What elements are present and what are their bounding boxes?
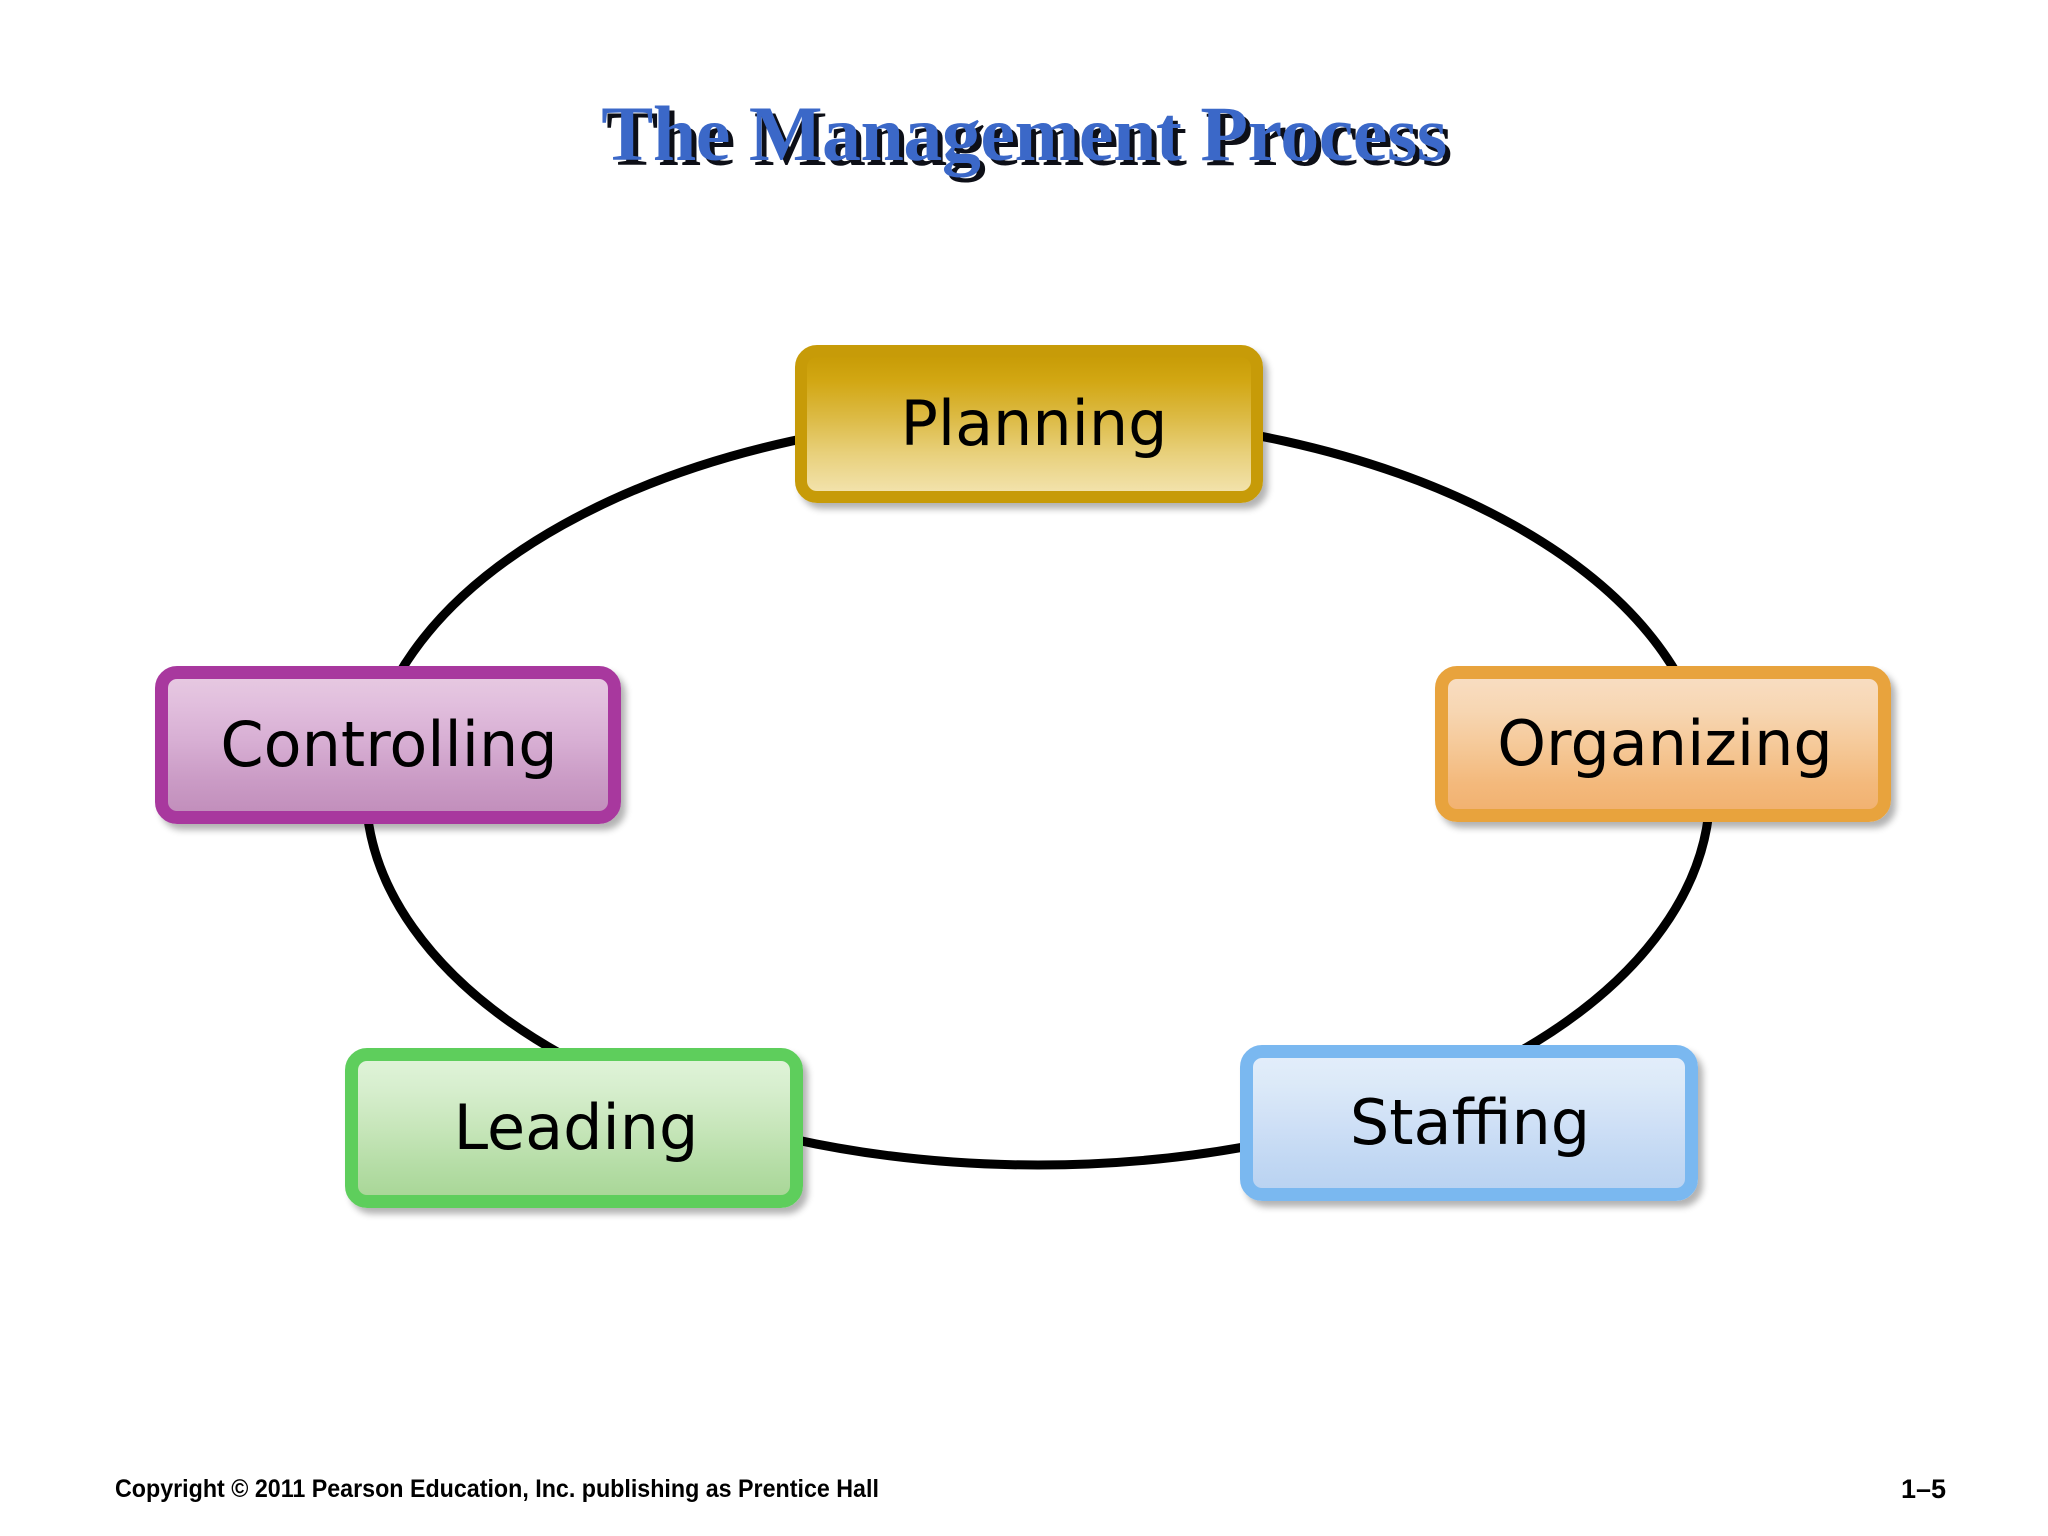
process-box-organizing-label: Organizing <box>1448 713 1878 775</box>
footer-copyright: Copyright © 2011 Pearson Education, Inc.… <box>115 1475 879 1504</box>
process-box-controlling[interactable]: Controlling <box>155 666 621 824</box>
process-box-organizing[interactable]: Organizing <box>1435 666 1891 822</box>
process-box-leading[interactable]: Leading <box>345 1048 803 1208</box>
page-title: The Management Process <box>0 95 2048 173</box>
process-box-planning-label: Planning <box>807 393 1251 455</box>
process-box-leading-label: Leading <box>358 1097 790 1159</box>
footer-page-number: 1–5 <box>1901 1474 1946 1505</box>
process-box-planning[interactable]: Planning <box>795 345 1263 503</box>
process-box-staffing[interactable]: Staffing <box>1240 1045 1698 1201</box>
process-box-staffing-label: Staffing <box>1253 1092 1685 1154</box>
process-box-controlling-label: Controlling <box>168 714 608 776</box>
slide-canvas: The Management Process Planning Organizi… <box>0 0 2048 1536</box>
